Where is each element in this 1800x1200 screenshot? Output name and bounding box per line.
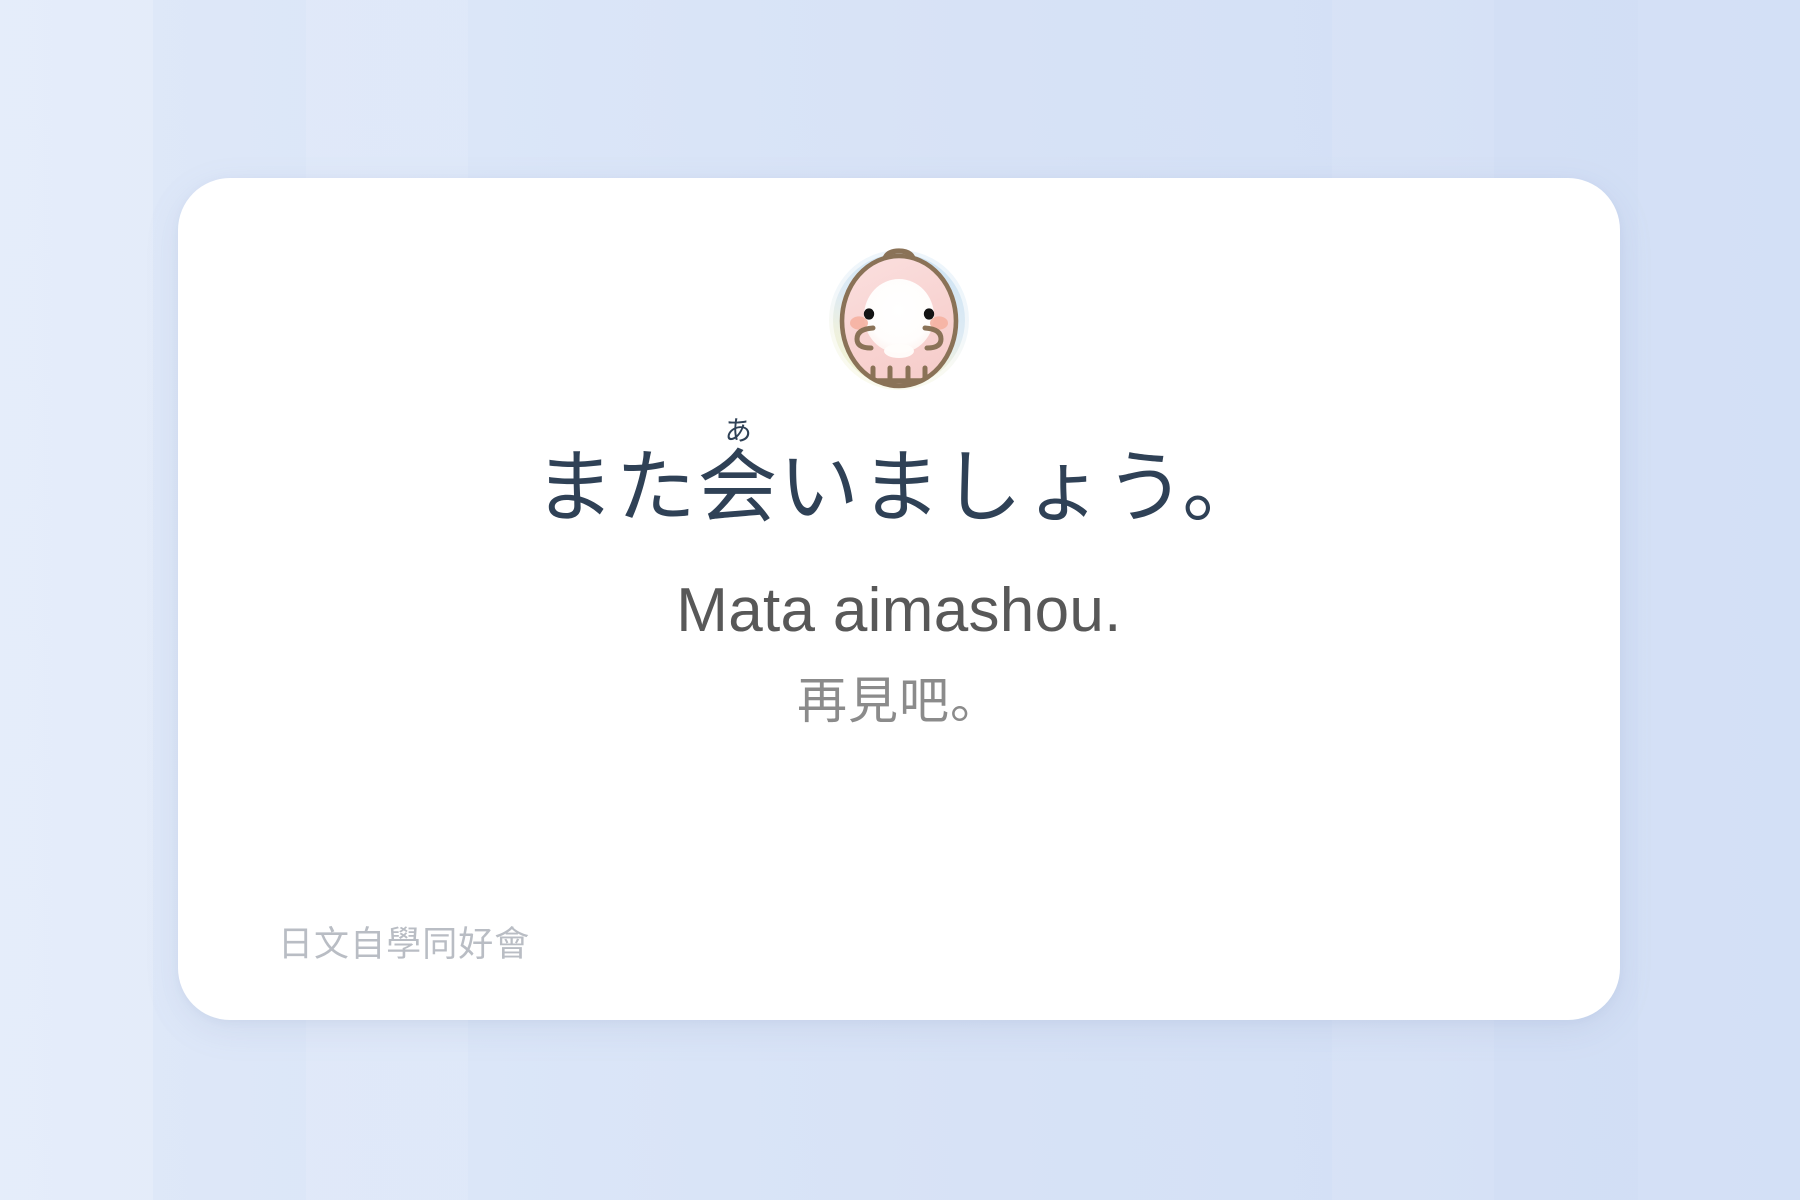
- japanese-segment-2-base: 会: [697, 441, 779, 534]
- japanese-segment-2-ruby: 会あ: [697, 441, 779, 534]
- footer-brand-label: 日文自學同好會: [278, 924, 530, 966]
- japanese-phrase: また会あいましょう。: [178, 416, 1620, 533]
- avatar-eye-right: [924, 308, 934, 319]
- avatar: [799, 220, 999, 420]
- chinese-translation: 再見吧。: [178, 671, 1620, 731]
- mochi-character-avatar: [799, 220, 999, 420]
- phrase-text-block: また会あいましょう。 Mata aimashou. 再見吧。: [178, 416, 1620, 731]
- avatar-eye-left: [864, 308, 874, 319]
- avatar-belly-patch: [864, 279, 934, 353]
- japanese-segment-3: いましょう。: [779, 441, 1264, 534]
- avatar-mouth: [884, 344, 914, 358]
- japanese-segment-1: また: [534, 441, 697, 534]
- furigana-reading: あ: [697, 416, 779, 447]
- romaji-transliteration: Mata aimashou.: [178, 577, 1620, 645]
- phrase-card: また会あいましょう。 Mata aimashou. 再見吧。 日文自學同好會: [178, 178, 1620, 1020]
